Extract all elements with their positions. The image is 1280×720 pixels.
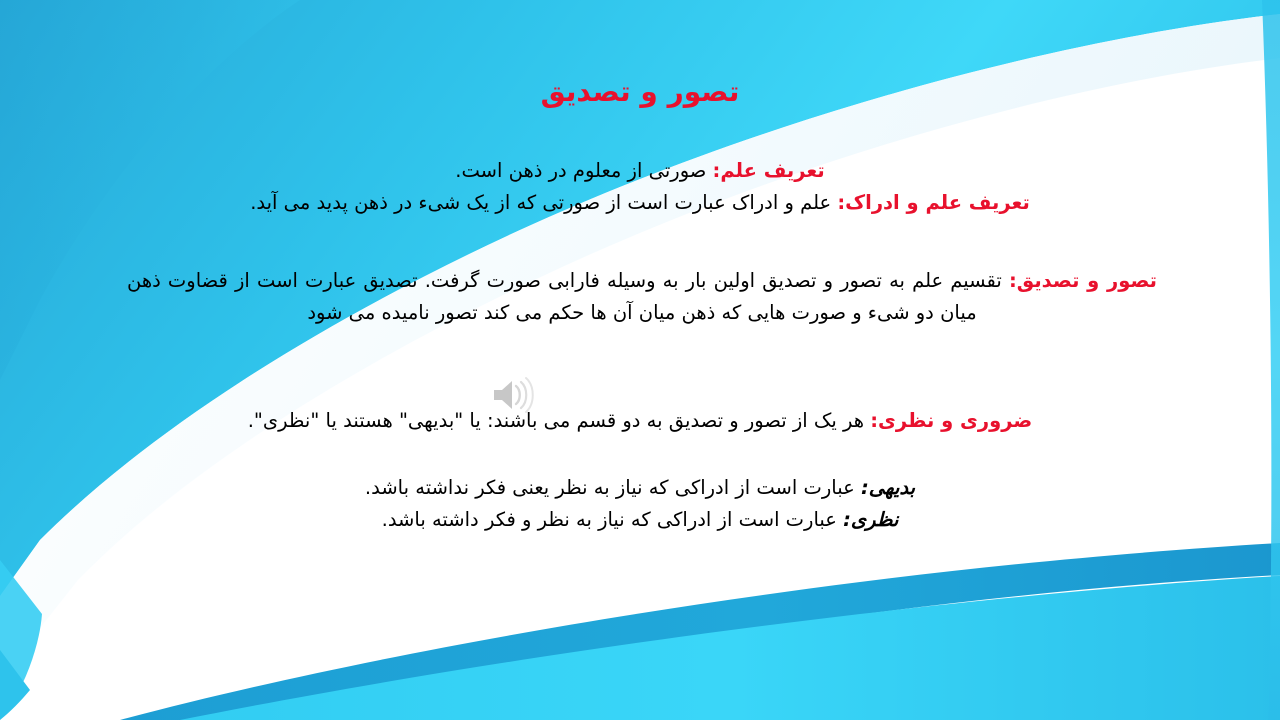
conception-assent-text: تقسیم علم به تصور و تصدیق اولین بار به و… <box>127 269 1009 324</box>
self-evident-label: بدیهی: <box>861 476 915 499</box>
definition-science-perception-line: تعریف علم و ادراک: علم و ادراک عبارت است… <box>100 187 1180 219</box>
definitions-block: تعریف علم: صورتی از معلوم در ذهن است. تع… <box>100 155 1180 218</box>
definition-science-text: صورتی از معلوم در ذهن است. <box>455 159 712 182</box>
necessary-theoretical-text: هر یک از تصور و تصدیق به دو قسم می باشند… <box>248 409 871 432</box>
necessary-theoretical-block: ضروری و نظری: هر یک از تصور و تصدیق به د… <box>0 405 1280 437</box>
conception-assent-label: تصور و تصدیق: <box>1009 269 1157 292</box>
self-evident-line: بدیهی: عبارت است از ادراکی که نیاز به نظ… <box>0 472 1280 504</box>
definition-science-label: تعریف علم: <box>713 159 825 182</box>
definition-science-line: تعریف علم: صورتی از معلوم در ذهن است. <box>100 155 1180 187</box>
types-definitions-block: بدیهی: عبارت است از ادراکی که نیاز به نظ… <box>0 472 1280 535</box>
slide-title: تصور و تصدیق <box>0 74 1280 109</box>
slide-content: تصور و تصدیق تعریف علم: صورتی از معلوم د… <box>0 0 1280 720</box>
presentation-slide: تصور و تصدیق تعریف علم: صورتی از معلوم د… <box>0 0 1280 720</box>
self-evident-text: عبارت است از ادراکی که نیاز به نظر یعنی … <box>365 476 861 499</box>
theoretical-line: نظری: عبارت است از ادراکی که نیاز به نظر… <box>0 504 1280 536</box>
definition-science-perception-text: علم و ادراک عبارت است از صورتی که از یک … <box>250 191 837 214</box>
speaker-audio-icon[interactable] <box>492 376 538 414</box>
necessary-theoretical-label: ضروری و نظری: <box>870 409 1032 432</box>
conception-assent-block: تصور و تصدیق: تقسیم علم به تصور و تصدیق … <box>125 265 1159 328</box>
theoretical-label: نظری: <box>843 508 898 531</box>
theoretical-text: عبارت است از ادراکی که نیاز به نظر و فکر… <box>382 508 844 531</box>
definition-science-perception-label: تعریف علم و ادراک: <box>837 191 1029 214</box>
